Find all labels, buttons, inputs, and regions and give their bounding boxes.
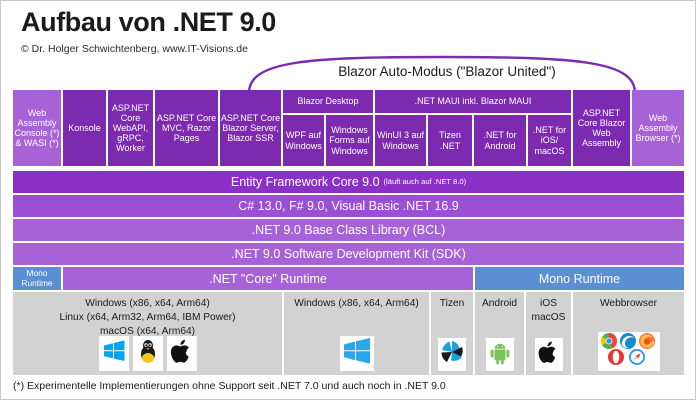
- windows-icon: [99, 336, 129, 371]
- runtime-mono-small[interactable]: Mono Runtime: [13, 267, 61, 290]
- bar-entity-framework-core[interactable]: Entity Framework Core 9.0 (läuft auch au…: [13, 171, 684, 193]
- workload-web-assembly-browser[interactable]: Web Assembly Browser (*): [632, 90, 684, 166]
- workload-aspnet-core-webapi[interactable]: ASP.NET Core WebAPI, gRPC, Worker: [108, 90, 153, 166]
- workload-aspnet-core-blazor-server[interactable]: ASP.NET Core Blazor Server, Blazor SSR: [220, 90, 281, 166]
- workload-windows-forms-auf-windows[interactable]: Windows Forms auf Windows: [326, 115, 373, 166]
- runtime-dotnet-core[interactable]: .NET "Core" Runtime: [63, 267, 473, 290]
- workload-wpf-auf-windows[interactable]: WPF auf Windows: [283, 115, 324, 166]
- workload-winui3-auf-windows[interactable]: WinUI 3 auf Windows: [375, 115, 426, 166]
- workload-konsole[interactable]: Konsole: [63, 90, 106, 166]
- apple-icon: [167, 336, 197, 371]
- byline: © Dr. Holger Schwichtenberg, www.IT-Visi…: [21, 43, 248, 55]
- os-icons-core: [13, 339, 282, 371]
- page-title: Aufbau von .NET 9.0: [21, 7, 276, 38]
- arc-label: Blazor Auto-Modus ("Blazor United"): [237, 64, 657, 79]
- linux-icon: [133, 336, 163, 371]
- workload-web-assembly-console[interactable]: Web Assembly Console (*) & WASI (*): [13, 90, 61, 166]
- bar-entity-framework-core-label: Entity Framework Core 9.0: [231, 175, 380, 189]
- workload-aspnet-core-blazor-webassembly[interactable]: ASP.NET Core Blazor Web Assembly: [573, 90, 630, 166]
- android-icon: [486, 338, 514, 371]
- diagram-frame: Aufbau von .NET 9.0 © Dr. Holger Schwich…: [0, 0, 696, 400]
- workload-aspnet-core-mvc[interactable]: ASP.NET Core MVC, Razor Pages: [155, 90, 218, 166]
- bar-sdk[interactable]: .NET 9.0 Software Development Kit (SDK): [13, 243, 684, 265]
- workload-dotnet-for-android[interactable]: .NET for Android: [474, 115, 526, 166]
- footnote: (*) Experimentelle Implementierungen ohn…: [13, 380, 446, 392]
- apple-icon: [535, 338, 563, 371]
- workload-dotnet-for-ios-macos[interactable]: .NET for iOS/ macOS: [528, 115, 571, 166]
- group-dotnet-maui[interactable]: .NET MAUI inkl. Blazor MAUI: [375, 90, 571, 113]
- os-icons-ios-macos: [526, 339, 571, 371]
- bar-entity-framework-core-suffix: (läuft auch auf .NET 8.0): [384, 178, 467, 187]
- workload-tizen-net[interactable]: Tizen .NET: [428, 115, 472, 166]
- os-icons-android: [475, 339, 524, 371]
- bar-base-class-library[interactable]: .NET 9.0 Base Class Library (BCL): [13, 219, 684, 241]
- bar-languages[interactable]: C# 13.0, F# 9.0, Visual Basic .NET 16.9: [13, 195, 684, 217]
- os-icons-webbrowser: [573, 337, 684, 371]
- os-icons-tizen: [431, 339, 473, 371]
- tizen-icon: [438, 338, 466, 371]
- windows-icon: [340, 336, 374, 371]
- browser-icons-group: [598, 332, 660, 371]
- os-icons-windows: [284, 339, 429, 371]
- group-blazor-desktop[interactable]: Blazor Desktop: [283, 90, 373, 113]
- runtime-mono[interactable]: Mono Runtime: [475, 267, 684, 290]
